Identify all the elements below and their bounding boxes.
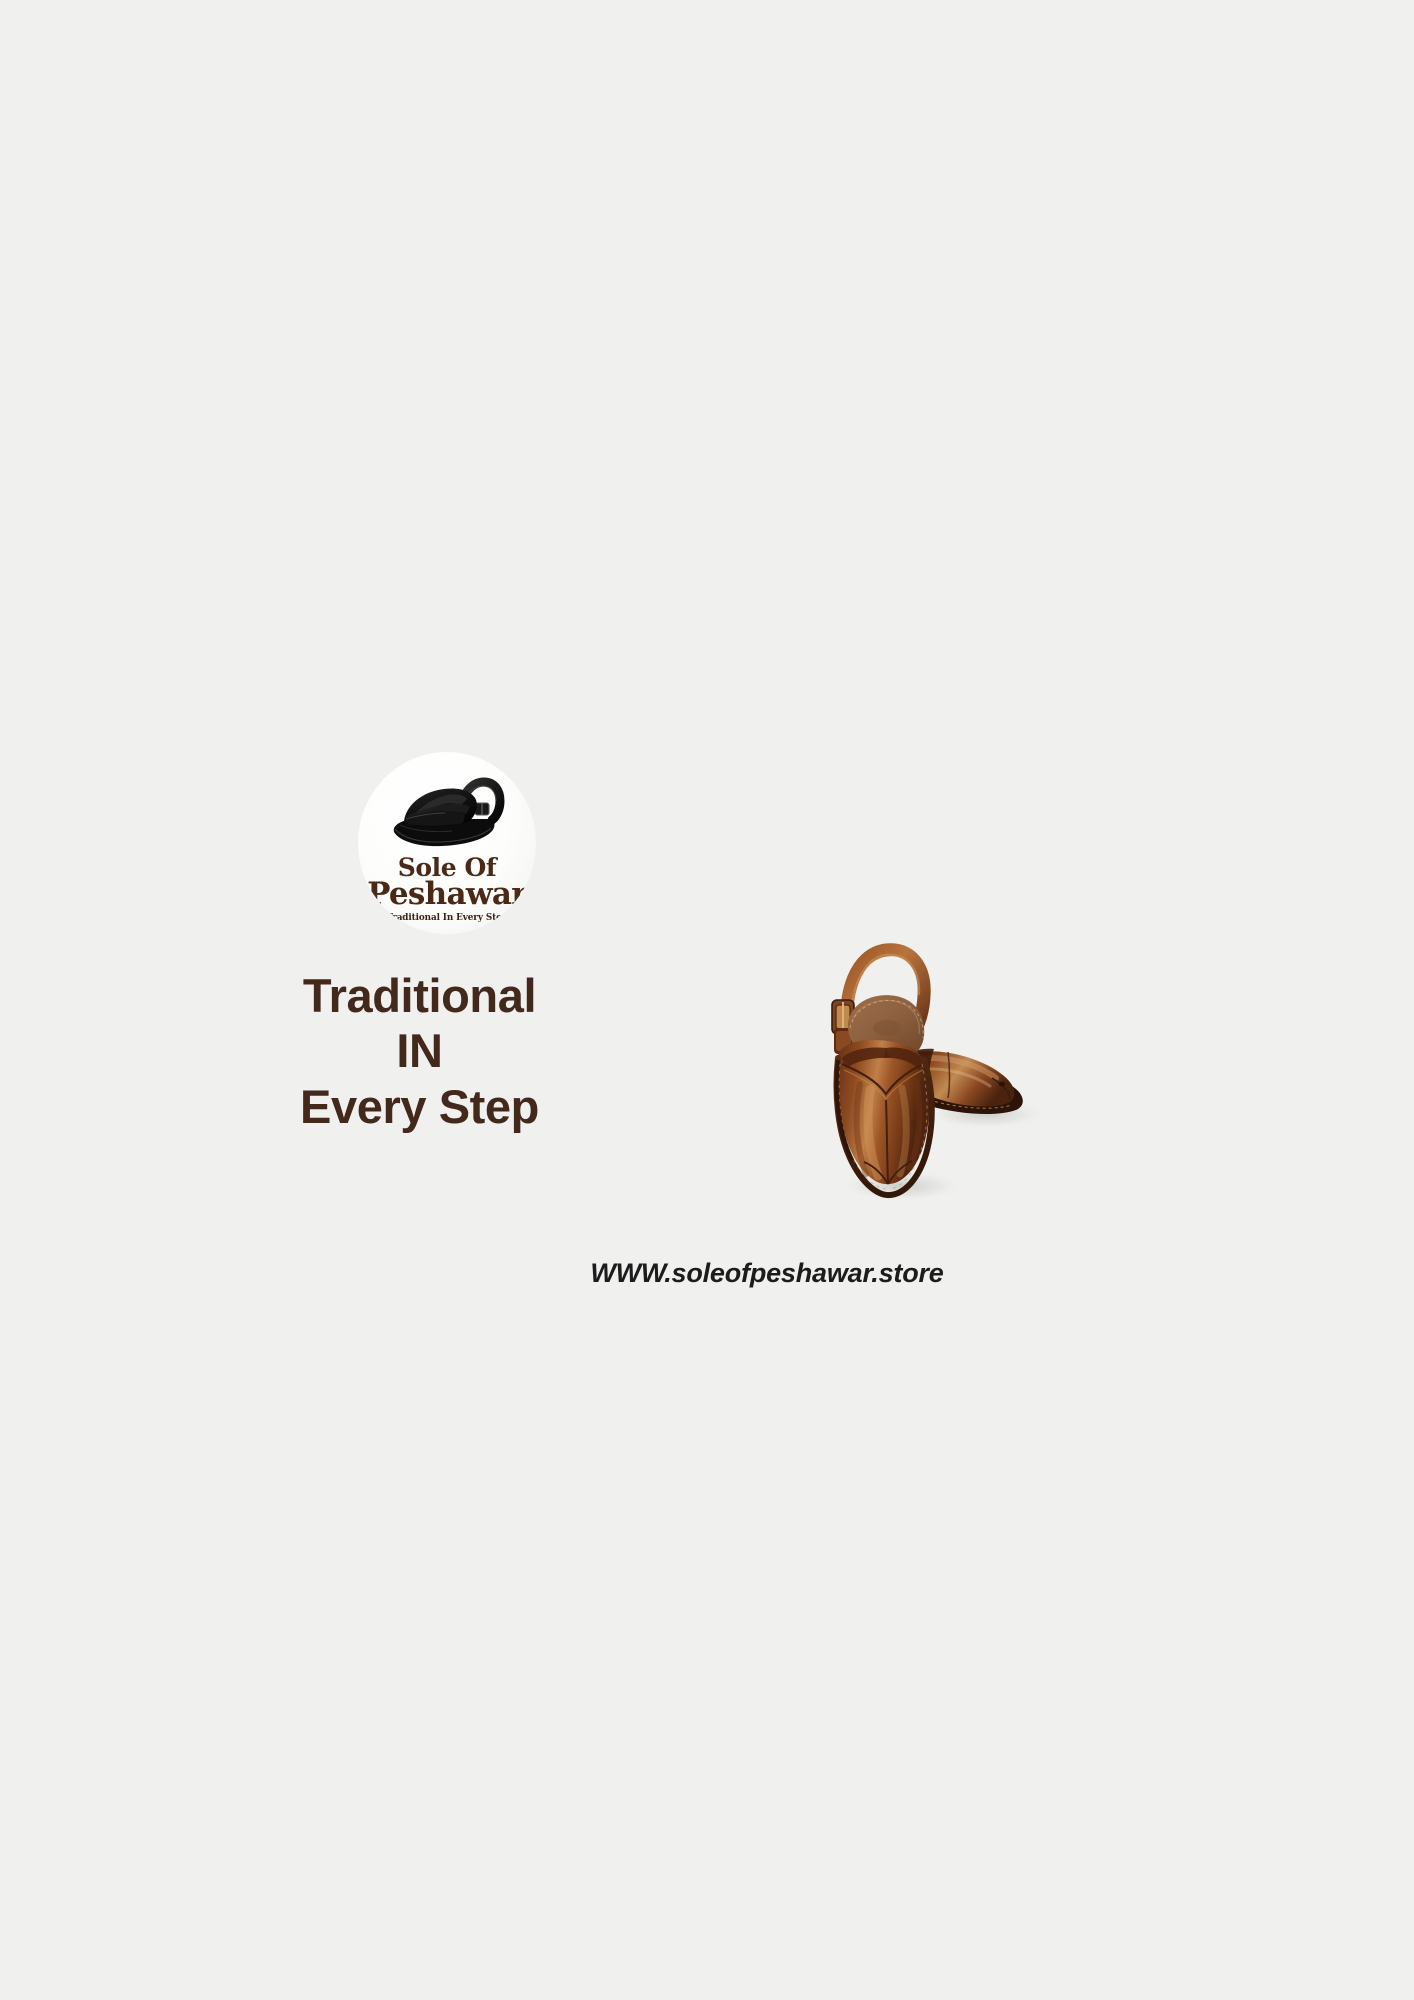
headline-line-2: IN: [272, 1023, 567, 1078]
brand-tagline: Traditional In Every Step: [363, 914, 530, 923]
brown-peshawari-chappal-pair-photo: [790, 918, 1070, 1218]
brand-wordmark: Sole Of Peshawar Traditional In Every St…: [358, 856, 536, 922]
advertisement-canvas: Sole Of Peshawar Traditional In Every St…: [0, 0, 1414, 2000]
headline-line-1: Traditional: [272, 968, 567, 1023]
peshawari-sandal-black-icon: [380, 768, 514, 854]
headline-line-3: Every Step: [272, 1079, 567, 1134]
website-url[interactable]: WWW.soleofpeshawar.store: [0, 1258, 1414, 1289]
brand-name-line-2: Peshawar: [358, 880, 536, 909]
headline-block: Traditional IN Every Step: [272, 968, 567, 1134]
brand-logo-badge: Sole Of Peshawar Traditional In Every St…: [358, 752, 536, 934]
sandal-front: [832, 950, 932, 1195]
